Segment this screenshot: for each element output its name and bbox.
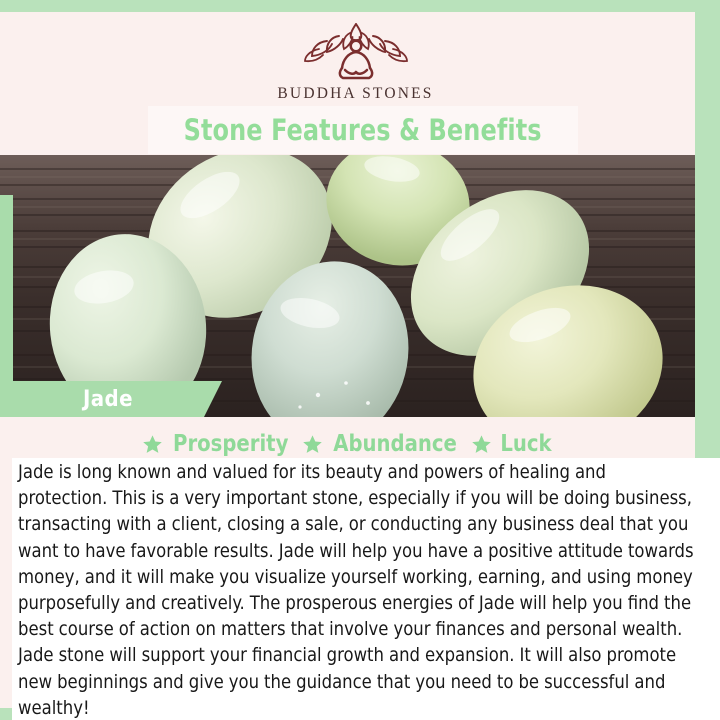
brand-name: BUDDHA STONES [277,85,433,103]
keyword-list: Prosperity Abundance Luck [0,428,695,460]
jade-stones-illustration [0,155,695,417]
star-icon [471,434,492,455]
star-icon [142,434,163,455]
title-banner: Stone Features & Benefits [148,106,578,154]
keyword-item-luck: Luck [471,431,553,457]
keyword-item-prosperity: Prosperity [142,431,291,457]
brand-logo: BUDDHA STONES [277,22,433,103]
description-text: Jade is long known and valued for its be… [18,460,700,720]
star-icon [302,434,323,455]
lotus-meditation-icon [302,22,410,84]
keyword-label: Abundance [333,431,457,457]
stone-name: Jade [83,387,133,412]
jade-stones-photo [0,155,695,417]
brand-header: BUDDHA STONES [0,12,695,112]
keyword-item-abundance: Abundance [302,431,460,457]
keyword-label: Prosperity [173,431,288,457]
stone-info-poster: BUDDHA STONES Stone Features & Benefits [0,0,720,720]
page-title: Stone Features & Benefits [184,113,542,147]
stone-name-ribbon: Jade [0,381,222,417]
description-panel: Jade is long known and valued for its be… [12,458,720,720]
keyword-label: Luck [501,431,552,457]
